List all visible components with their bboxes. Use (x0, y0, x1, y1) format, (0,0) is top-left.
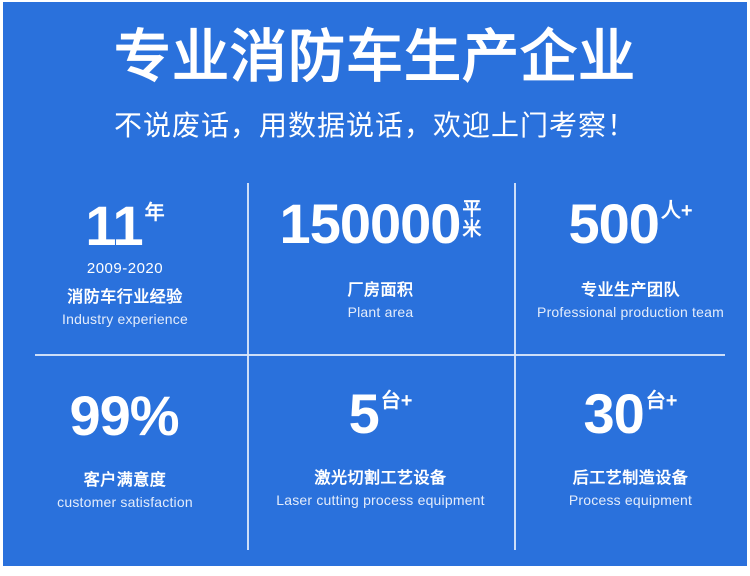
stat-number: 11 (85, 199, 142, 252)
stat-label-en: Plant area (348, 304, 414, 320)
stat-value-group: 500 人+ (568, 197, 692, 250)
stat-cell-laser-cutting-equipment: 5 台+ 激光切割工艺设备 Laser cutting process equi… (247, 373, 514, 545)
stat-label-cn: 消防车行业经验 (67, 283, 183, 307)
stat-number: 30 (584, 387, 644, 440)
banner-header: 专业消防车生产企业 不说废话，用数据说话，欢迎上门考察！ (3, 28, 747, 144)
stat-label-cn: 厂房面积 (347, 276, 413, 300)
stat-label-en: Industry experience (62, 311, 188, 327)
page-title: 专业消防车生产企业 (3, 28, 747, 88)
stat-cell-industry-experience: 11 年 2009-2020 消防车行业经验 Industry experien… (3, 183, 247, 355)
stat-unit-char-2: 米 (462, 220, 481, 240)
stat-unit: 台+ (381, 391, 413, 412)
stat-label-cn: 后工艺制造设备 (573, 464, 689, 488)
stat-cell-plant-area: 150000 平 米 厂房面积 Plant area (247, 183, 514, 355)
stat-label-en: Laser cutting process equipment (276, 492, 485, 508)
stat-value-group: 150000 平 米 (280, 197, 482, 250)
stat-date-range: 2009-2020 (87, 260, 163, 277)
stats-grid: 11 年 2009-2020 消防车行业经验 Industry experien… (3, 183, 747, 553)
page-subtitle: 不说废话，用数据说话，欢迎上门考察！ (3, 104, 747, 144)
stat-value-group: 11 年 (85, 199, 164, 252)
stat-label-cn: 激光切割工艺设备 (314, 464, 446, 488)
stat-unit: 平 米 (462, 200, 481, 240)
stat-number: 500 (568, 197, 658, 250)
stat-label-en: Professional production team (537, 304, 724, 320)
stat-number: 99% (69, 389, 178, 442)
promo-banner: 专业消防车生产企业 不说废话，用数据说话，欢迎上门考察！ 11 年 2009-2… (0, 0, 750, 576)
stat-number: 5 (349, 387, 379, 440)
stats-row-bottom: 99% 客户满意度 customer satisfaction 5 台+ 激光切… (3, 373, 747, 545)
stat-label-cn: 专业生产团队 (581, 276, 680, 300)
stat-label-en: customer satisfaction (57, 494, 193, 510)
stat-cell-production-team: 500 人+ 专业生产团队 Professional production te… (514, 183, 747, 355)
stat-unit-char-1: 平 (462, 200, 481, 220)
stat-unit: 台+ (646, 391, 678, 412)
stat-value-group: 5 台+ (349, 387, 413, 440)
stat-value-group: 99% (69, 389, 180, 442)
stat-label-cn: 客户满意度 (84, 466, 167, 490)
stat-cell-customer-satisfaction: 99% 客户满意度 customer satisfaction (3, 373, 247, 545)
stat-cell-process-equipment: 30 台+ 后工艺制造设备 Process equipment (514, 373, 747, 545)
stat-unit: 年 (145, 203, 165, 224)
stats-row-top: 11 年 2009-2020 消防车行业经验 Industry experien… (3, 183, 747, 355)
stat-number: 150000 (280, 197, 461, 250)
stat-value-group: 30 台+ (584, 387, 678, 440)
stat-label-en: Process equipment (569, 492, 692, 508)
stat-unit: 人+ (661, 201, 693, 222)
